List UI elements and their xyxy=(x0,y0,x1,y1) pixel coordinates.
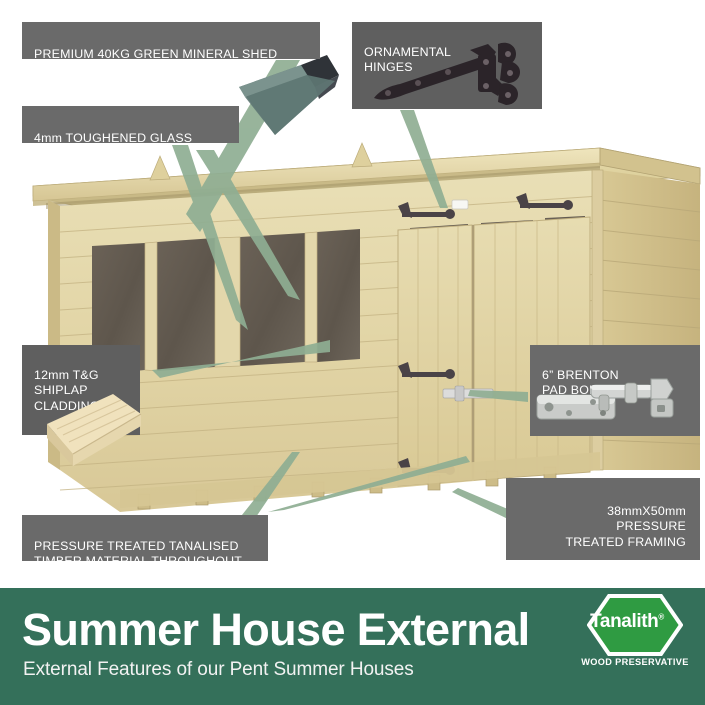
callout-toughened-glass: 4mm TOUGHENED GLASS xyxy=(22,106,239,143)
ornamental-hinge-image xyxy=(366,40,531,110)
product-illustration: PREMIUM 40KG GREEN MINERAL SHED FELT ORN… xyxy=(0,0,705,578)
callout-pressure-treated-text: PRESSURE TREATED TANALISED TIMBER MATERI… xyxy=(34,539,244,569)
shiplap-board-image xyxy=(43,388,143,470)
banner-title: Summer House External xyxy=(22,605,530,655)
callout-framing-timber-text: 38mmX50mm PRESSURE TREATED FRAMING xyxy=(566,504,686,549)
callout-pressure-treated: PRESSURE TREATED TANALISED TIMBER MATERI… xyxy=(22,515,268,561)
pad-bolt-image xyxy=(533,375,693,430)
bottom-banner: Summer House External External Features … xyxy=(0,588,705,705)
tanalith-wordmark: Tanalith® xyxy=(579,611,675,633)
callout-framing-timber: 38mmX50mm PRESSURE TREATED FRAMING xyxy=(506,478,700,560)
tanalith-tagline: WOOD PRESERVATIVE xyxy=(579,657,691,667)
tanalith-logo: Tanalith® WOOD PRESERVATIVE xyxy=(579,594,691,686)
registered-mark: ® xyxy=(658,613,664,622)
banner-subtitle: External Features of our Pent Summer Hou… xyxy=(23,658,414,682)
callout-shed-felt: PREMIUM 40KG GREEN MINERAL SHED FELT xyxy=(22,22,320,59)
infographic-stage: PREMIUM 40KG GREEN MINERAL SHED FELT ORN… xyxy=(0,0,705,705)
callout-toughened-glass-text: 4mm TOUGHENED GLASS xyxy=(34,131,192,145)
tanalith-name: Tanalith xyxy=(590,611,658,632)
